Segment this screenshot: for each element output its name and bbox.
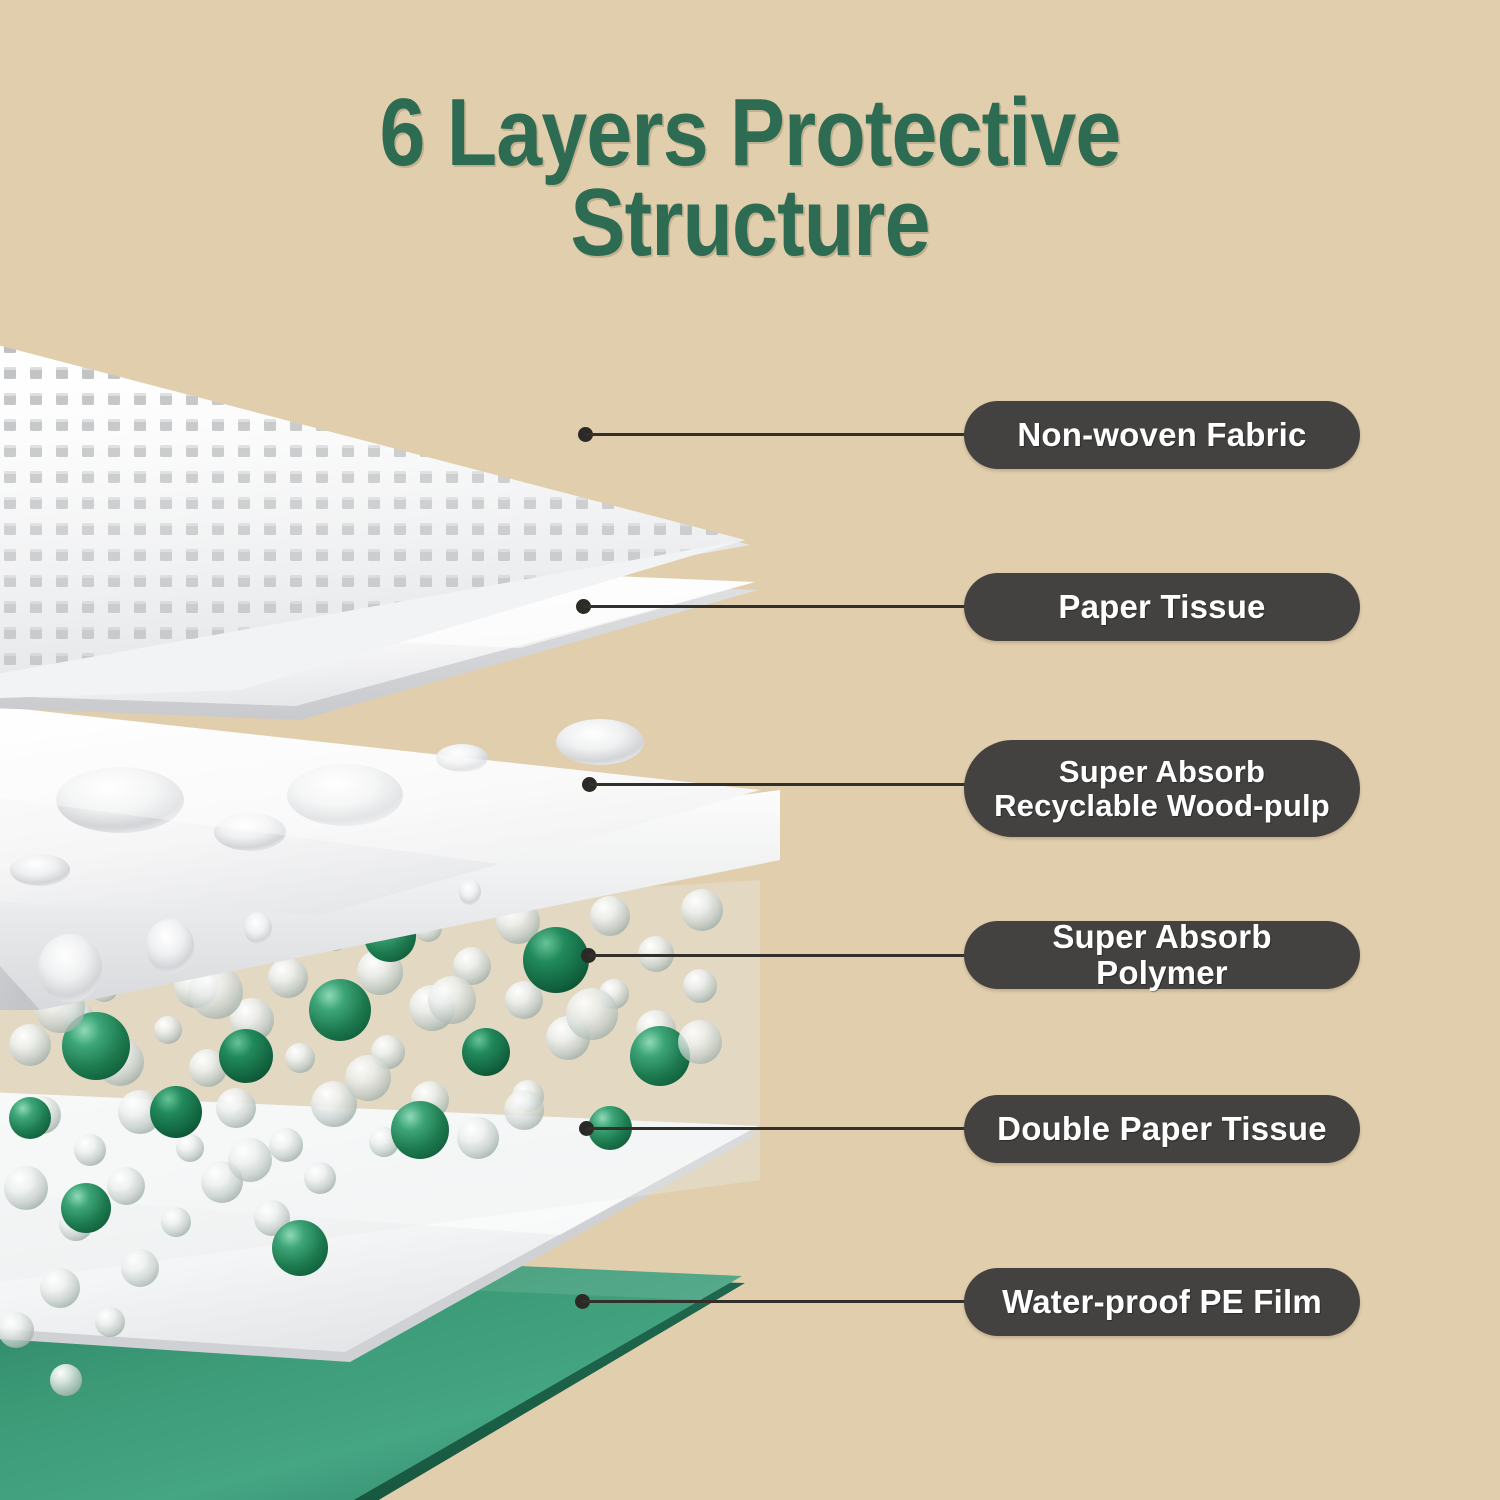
leader-line-paper-tissue: [583, 605, 978, 608]
layer-label-text: Paper Tissue: [1058, 589, 1265, 625]
layer-label-text: Super Absorb Polymer: [982, 919, 1342, 990]
leader-line-super-absorb-polymer: [588, 954, 978, 957]
layer-label-paper-tissue[interactable]: Paper Tissue: [964, 573, 1360, 641]
layer-label-text: Double Paper Tissue: [997, 1111, 1327, 1147]
layer-label-super-absorb-polymer[interactable]: Super Absorb Polymer: [964, 921, 1360, 989]
layer-label-text: Non-woven Fabric: [1017, 417, 1306, 453]
leader-line-water-proof-pe-film: [582, 1300, 978, 1303]
layer-label-super-absorb-recyclable-wood-pulp[interactable]: Super Absorb Recyclable Wood-pulp: [964, 740, 1360, 837]
leader-line-double-paper-tissue: [586, 1127, 978, 1130]
page-title: 6 Layers Protective Structure: [105, 88, 1395, 268]
layer-label-non-woven-fabric[interactable]: Non-woven Fabric: [964, 401, 1360, 469]
infographic-canvas: 6 Layers Protective Structure Non-woven …: [0, 0, 1500, 1500]
layer-label-water-proof-pe-film[interactable]: Water-proof PE Film: [964, 1268, 1360, 1336]
layer-label-text: Water-proof PE Film: [1002, 1284, 1322, 1320]
layer-label-text: Super Absorb Recyclable Wood-pulp: [994, 755, 1330, 822]
layer-label-double-paper-tissue[interactable]: Double Paper Tissue: [964, 1095, 1360, 1163]
leader-line-non-woven-fabric: [585, 433, 978, 436]
leader-line-super-absorb-recyclable-wood-pulp: [589, 783, 978, 786]
